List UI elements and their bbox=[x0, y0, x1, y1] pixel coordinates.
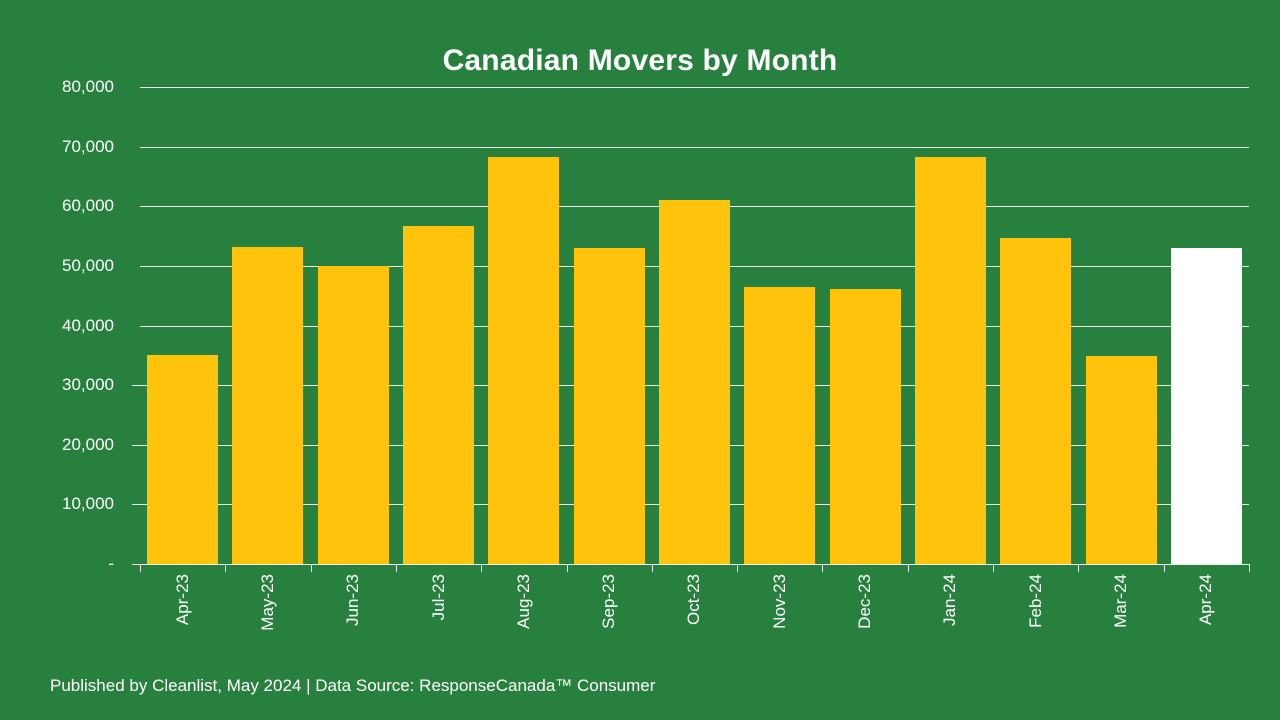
x-axis-label-slot: Jun-23 bbox=[311, 574, 396, 684]
x-axis-tick-label: Mar-24 bbox=[1111, 574, 1131, 628]
bar-jun-23[interactable] bbox=[318, 266, 389, 564]
bar-may-23[interactable] bbox=[232, 247, 303, 564]
x-axis-tick bbox=[1078, 564, 1079, 572]
x-axis-labels: Apr-23May-23Jun-23Jul-23Aug-23Sep-23Oct-… bbox=[140, 564, 1249, 684]
bar-feb-24[interactable] bbox=[1000, 238, 1071, 564]
x-axis-tick bbox=[652, 564, 653, 572]
x-axis-label-slot: Mar-24 bbox=[1078, 574, 1163, 684]
x-axis-tick-label: Sep-23 bbox=[599, 574, 619, 629]
gridline bbox=[140, 87, 1249, 88]
y-axis-tick-label: 60,000 bbox=[18, 196, 114, 216]
x-axis-label-slot: May-23 bbox=[225, 574, 310, 684]
x-axis-tick bbox=[1249, 564, 1250, 572]
y-axis-tick bbox=[132, 445, 140, 446]
x-axis-label-slot: Aug-23 bbox=[481, 574, 566, 684]
x-axis-tick bbox=[396, 564, 397, 572]
x-axis-tick bbox=[481, 564, 482, 572]
y-axis-tick bbox=[132, 564, 140, 565]
x-axis-label-slot: Jan-24 bbox=[908, 574, 993, 684]
plot-area bbox=[140, 87, 1249, 564]
bar-nov-23[interactable] bbox=[744, 287, 815, 564]
y-axis-labels: 80,00070,00060,00050,00040,00030,00020,0… bbox=[18, 0, 118, 720]
bar-mar-24[interactable] bbox=[1086, 356, 1157, 564]
bar-apr-24[interactable] bbox=[1171, 248, 1242, 564]
page-title: Canadian Movers by Month bbox=[0, 44, 1280, 78]
y-axis-tick bbox=[132, 385, 140, 386]
x-axis-label-slot: Apr-23 bbox=[140, 574, 225, 684]
x-axis-tick-label: Apr-24 bbox=[1196, 574, 1216, 625]
x-axis-tick bbox=[140, 564, 141, 572]
x-axis-label-slot: Nov-23 bbox=[737, 574, 822, 684]
y-axis-tick-label: 10,000 bbox=[18, 494, 114, 514]
x-axis-tick-label: Feb-24 bbox=[1026, 574, 1046, 628]
x-axis-label-slot: Oct-23 bbox=[652, 574, 737, 684]
x-axis-label-slot: Jul-23 bbox=[396, 574, 481, 684]
x-axis-tick bbox=[908, 564, 909, 572]
x-axis-tick bbox=[993, 564, 994, 572]
bar-apr-23[interactable] bbox=[147, 355, 218, 564]
y-axis-tick-label: - bbox=[18, 554, 114, 574]
bar-jan-24[interactable] bbox=[915, 157, 986, 564]
x-axis-label-slot: Dec-23 bbox=[822, 574, 907, 684]
y-axis-tick bbox=[132, 504, 140, 505]
x-axis-tick-label: Dec-23 bbox=[855, 574, 875, 629]
x-axis-tick bbox=[311, 564, 312, 572]
x-axis-tick-label: Apr-23 bbox=[173, 574, 193, 625]
x-axis-label-slot: Sep-23 bbox=[567, 574, 652, 684]
x-axis-tick-label: May-23 bbox=[258, 574, 278, 631]
x-axis-tick bbox=[225, 564, 226, 572]
y-axis-tick-label: 70,000 bbox=[18, 137, 114, 157]
x-axis-tick-label: Oct-23 bbox=[684, 574, 704, 625]
y-axis-tick-label: 50,000 bbox=[18, 256, 114, 276]
footer-source-note: Published by Cleanlist, May 2024 | Data … bbox=[50, 676, 655, 696]
x-axis-tick-label: Jun-23 bbox=[343, 574, 363, 626]
x-axis-tick bbox=[822, 564, 823, 572]
x-axis-tick bbox=[737, 564, 738, 572]
y-axis-tick-label: 80,000 bbox=[18, 77, 114, 97]
bar-sep-23[interactable] bbox=[574, 248, 645, 564]
x-axis-tick-label: Aug-23 bbox=[514, 574, 534, 629]
x-axis-tick bbox=[567, 564, 568, 572]
y-axis-tick-label: 20,000 bbox=[18, 435, 114, 455]
bar-aug-23[interactable] bbox=[488, 157, 559, 564]
x-axis-label-slot: Feb-24 bbox=[993, 574, 1078, 684]
bar-jul-23[interactable] bbox=[403, 226, 474, 564]
x-axis-tick-label: Jul-23 bbox=[429, 574, 449, 620]
gridline bbox=[140, 147, 1249, 148]
x-axis-tick bbox=[1164, 564, 1165, 572]
x-axis-tick-label: Jan-24 bbox=[940, 574, 960, 626]
chart-container: Canadian Movers by Month 80,00070,00060,… bbox=[0, 0, 1280, 720]
y-axis-tick-label: 40,000 bbox=[18, 316, 114, 336]
x-axis-label-slot: Apr-24 bbox=[1164, 574, 1249, 684]
bar-dec-23[interactable] bbox=[830, 289, 901, 564]
x-axis-tick-label: Nov-23 bbox=[770, 574, 790, 629]
y-axis-tick-label: 30,000 bbox=[18, 375, 114, 395]
bar-oct-23[interactable] bbox=[659, 200, 730, 564]
